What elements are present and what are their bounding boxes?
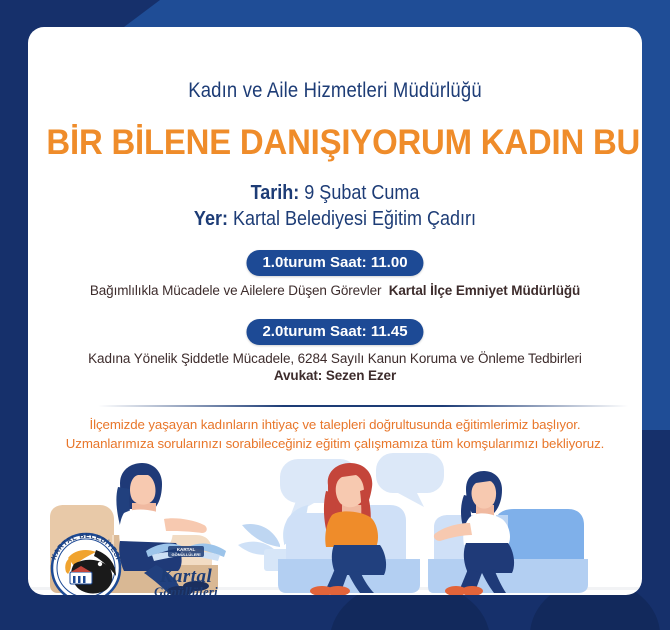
event-meta: Tarih: 9 Şubat Cuma Yer: Kartal Belediye…: [59, 181, 612, 232]
event-place-row: Yer: Kartal Belediyesi Eğitim Çadırı: [59, 207, 612, 233]
session-2-topic: Kadına Yönelik Şiddetle Mücadele, 6284 S…: [28, 351, 642, 366]
svg-text:GÖNÜLLÜLERİ: GÖNÜLLÜLERİ: [172, 552, 201, 557]
section-divider: [98, 405, 628, 407]
session-1-speaker: Kartal İlçe Emniyet Müdürlüğü: [389, 283, 580, 298]
session-1-badge: 1.0turum Saat: 11.00: [246, 250, 423, 276]
poster-title: BİR BİLENE DANIŞIYORUM KADIN BULUŞMASI: [46, 123, 623, 163]
date-label: Tarih:: [251, 182, 300, 204]
event-date-row: Tarih: 9 Şubat Cuma: [59, 181, 612, 207]
place-value: Kartal Belediyesi Eğitim Çadırı: [228, 208, 476, 230]
poster-canvas: Kadın ve Aile Hizmetleri Müdürlüğü BİR B…: [0, 0, 670, 630]
session-2-badge: 2.0turum Saat: 11.45: [246, 319, 423, 345]
session-1-description: Bağımlılıkla Mücadele ve Ailelere Düşen …: [28, 283, 642, 298]
gonulluleri-word-1: Kartal: [142, 567, 230, 586]
kartal-belediyesi-logo: KARTAL BELEDİYESİ: [38, 530, 134, 595]
place-label: Yer:: [194, 208, 228, 230]
session-1-topic: Bağımlılıkla Mücadele ve Ailelere Düşen …: [90, 283, 382, 298]
session-2-speaker: Avukat: Sezen Ezer: [28, 368, 642, 383]
kartal-gonulluleri-logo: KARTAL GÖNÜLLÜLERİ Kartal Gönüllüleri: [142, 537, 230, 595]
gonulluleri-wings-emblem: KARTAL GÖNÜLLÜLERİ: [142, 537, 230, 567]
frame-accent-top: [120, 0, 670, 30]
date-value: 9 Şubat Cuma: [299, 182, 419, 204]
department-name: Kadın ve Aile Hizmetleri Müdürlüğü: [65, 79, 605, 103]
poster-card: Kadın ve Aile Hizmetleri Müdürlüğü BİR B…: [28, 27, 642, 595]
gonulluleri-word-2: Gönüllüleri: [142, 586, 230, 595]
speech-bubble-right: [376, 453, 444, 507]
